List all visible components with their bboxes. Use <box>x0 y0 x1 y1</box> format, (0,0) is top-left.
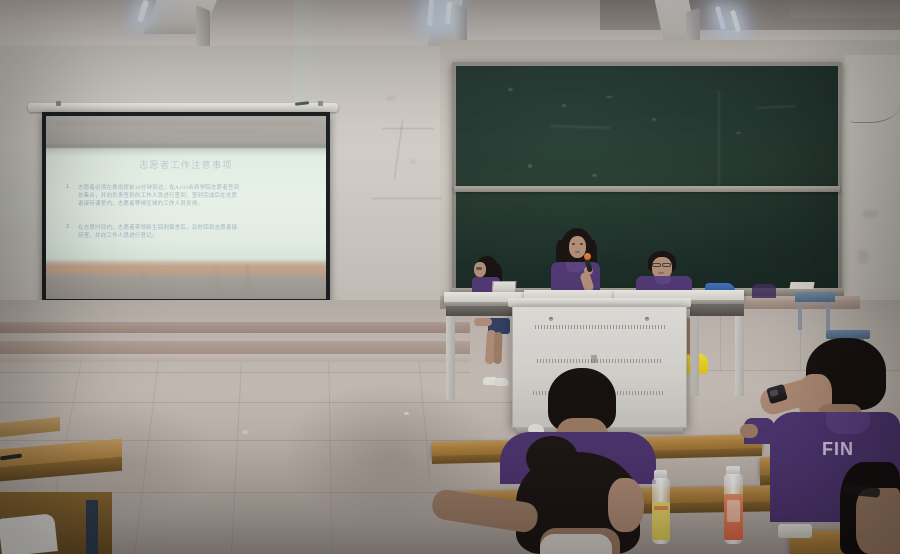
projection-screen[interactable]: 志愿者工作注意事项 1. 志愿者必须在换班提前30分钟到达，在A103合商学院志… <box>42 112 330 303</box>
blackboard-mid-rail <box>454 186 840 192</box>
wall-scratch-3 <box>372 198 442 199</box>
podium-screw-2 <box>645 317 649 321</box>
tile-line-h-1 <box>0 372 470 373</box>
man-glasses-right-icon <box>662 263 671 267</box>
table-under-right <box>690 304 744 316</box>
screen-streak-4 <box>142 268 144 290</box>
table-leg-right-1 <box>690 316 699 396</box>
slide-item-1-number: 1. <box>66 184 71 190</box>
man-collar <box>655 276 671 284</box>
floor-step-face <box>0 341 470 354</box>
stool-back-rest[interactable] <box>795 292 835 302</box>
wall-smudge-2 <box>410 160 416 164</box>
audience-bun-hair-bun <box>526 436 578 480</box>
seated-girl-leg-2 <box>493 332 502 364</box>
housing-bracket-left <box>56 101 61 106</box>
screen-streak-5 <box>246 264 249 290</box>
slide-item-2-number: 2. <box>66 224 71 230</box>
partial-person-right-shirt <box>752 284 776 298</box>
bottle-orange-label-panel <box>727 500 740 522</box>
stool-back-leg-1 <box>798 302 802 330</box>
podium-screw-1 <box>549 317 553 321</box>
man-glasses-left-icon <box>652 263 661 267</box>
speaker-eye-right <box>580 243 583 245</box>
desk-left-paper[interactable] <box>0 513 58 554</box>
audience-right-shirt-text: FIN <box>822 438 878 460</box>
screen-roller-housing[interactable] <box>28 103 338 112</box>
podium-vent-1 <box>535 325 665 329</box>
floor-debris-1 <box>242 430 249 434</box>
podium-vent-2 <box>537 359 663 363</box>
audience-far-right-face <box>856 488 900 554</box>
baseboard-left <box>0 322 470 333</box>
seated-girl-arm <box>474 318 492 326</box>
slide-item-1-line-1: 志愿者必须在换班提前30分钟到达，在A103合商学院志愿者签到 <box>78 184 318 192</box>
blackboard-surface <box>456 66 838 288</box>
table-leg-right-2 <box>735 316 744 396</box>
audience-partial-arm <box>740 424 758 438</box>
wall-smudge-4 <box>858 250 868 264</box>
bench-small-item[interactable] <box>778 524 812 538</box>
ceiling-beam-1-side <box>196 5 210 51</box>
man-mouth <box>658 272 664 274</box>
classroom-scene: 志愿者工作注意事项 1. 志愿者必须在换班提前30分钟到达，在A103合商学院志… <box>0 0 900 554</box>
speaker-eye-left <box>572 243 575 245</box>
audience-right-collar <box>826 412 870 434</box>
screen-streak-2 <box>166 130 256 132</box>
ceiling-shadow-2 <box>790 0 900 18</box>
audience-bun-hair-top <box>540 534 612 554</box>
housing-bracket-right <box>318 101 323 106</box>
paper-on-ledge[interactable] <box>789 282 814 289</box>
bottle-white-label-stripe <box>654 506 668 510</box>
seated-girl-glasses-icon <box>476 267 482 270</box>
slide-item-2-line-2: 待室，并向工作人员进行登记。 <box>78 232 318 240</box>
seated-girl-shoe-2 <box>494 378 509 386</box>
slide-item-2-line-1: 在志愿时间内，志愿者带领新生回到宿舍后，及时回到志愿者接 <box>78 224 318 232</box>
blackboard-lighting <box>456 66 838 288</box>
floor-debris-2 <box>404 412 409 415</box>
slide-item-1-line-3: 者接待课室内，志愿者等候区域的工作人员安排。 <box>78 200 318 208</box>
floor-step-top <box>0 354 470 362</box>
wall-smudge-3 <box>862 210 878 218</box>
blackboard <box>452 62 842 292</box>
wall-smudge-1 <box>386 96 396 100</box>
slide-item-1-line-2: 处集合，并向负责签到的工作人员进行签到，签到完成后在志愿 <box>78 192 318 200</box>
desk-left-leg <box>86 500 98 554</box>
microphone-head-icon <box>584 253 591 260</box>
stool-back-leg-2 <box>826 302 830 330</box>
screen-streak-3 <box>216 266 218 290</box>
table-under-left <box>446 306 522 316</box>
table-leg-left-1 <box>446 316 455 400</box>
speaker-mouth <box>575 251 580 253</box>
podium-lock[interactable] <box>591 355 597 363</box>
speaker-collar <box>566 262 585 272</box>
screen-streak-1 <box>56 122 311 125</box>
audience-bun-hair-face <box>608 478 644 532</box>
projected-slide: 志愿者工作注意事项 1. 志愿者必须在换班提前30分钟到达，在A103合商学院志… <box>46 116 326 299</box>
slide-title: 志愿者工作注意事项 <box>46 158 326 171</box>
wall-scratch-2 <box>382 128 434 129</box>
